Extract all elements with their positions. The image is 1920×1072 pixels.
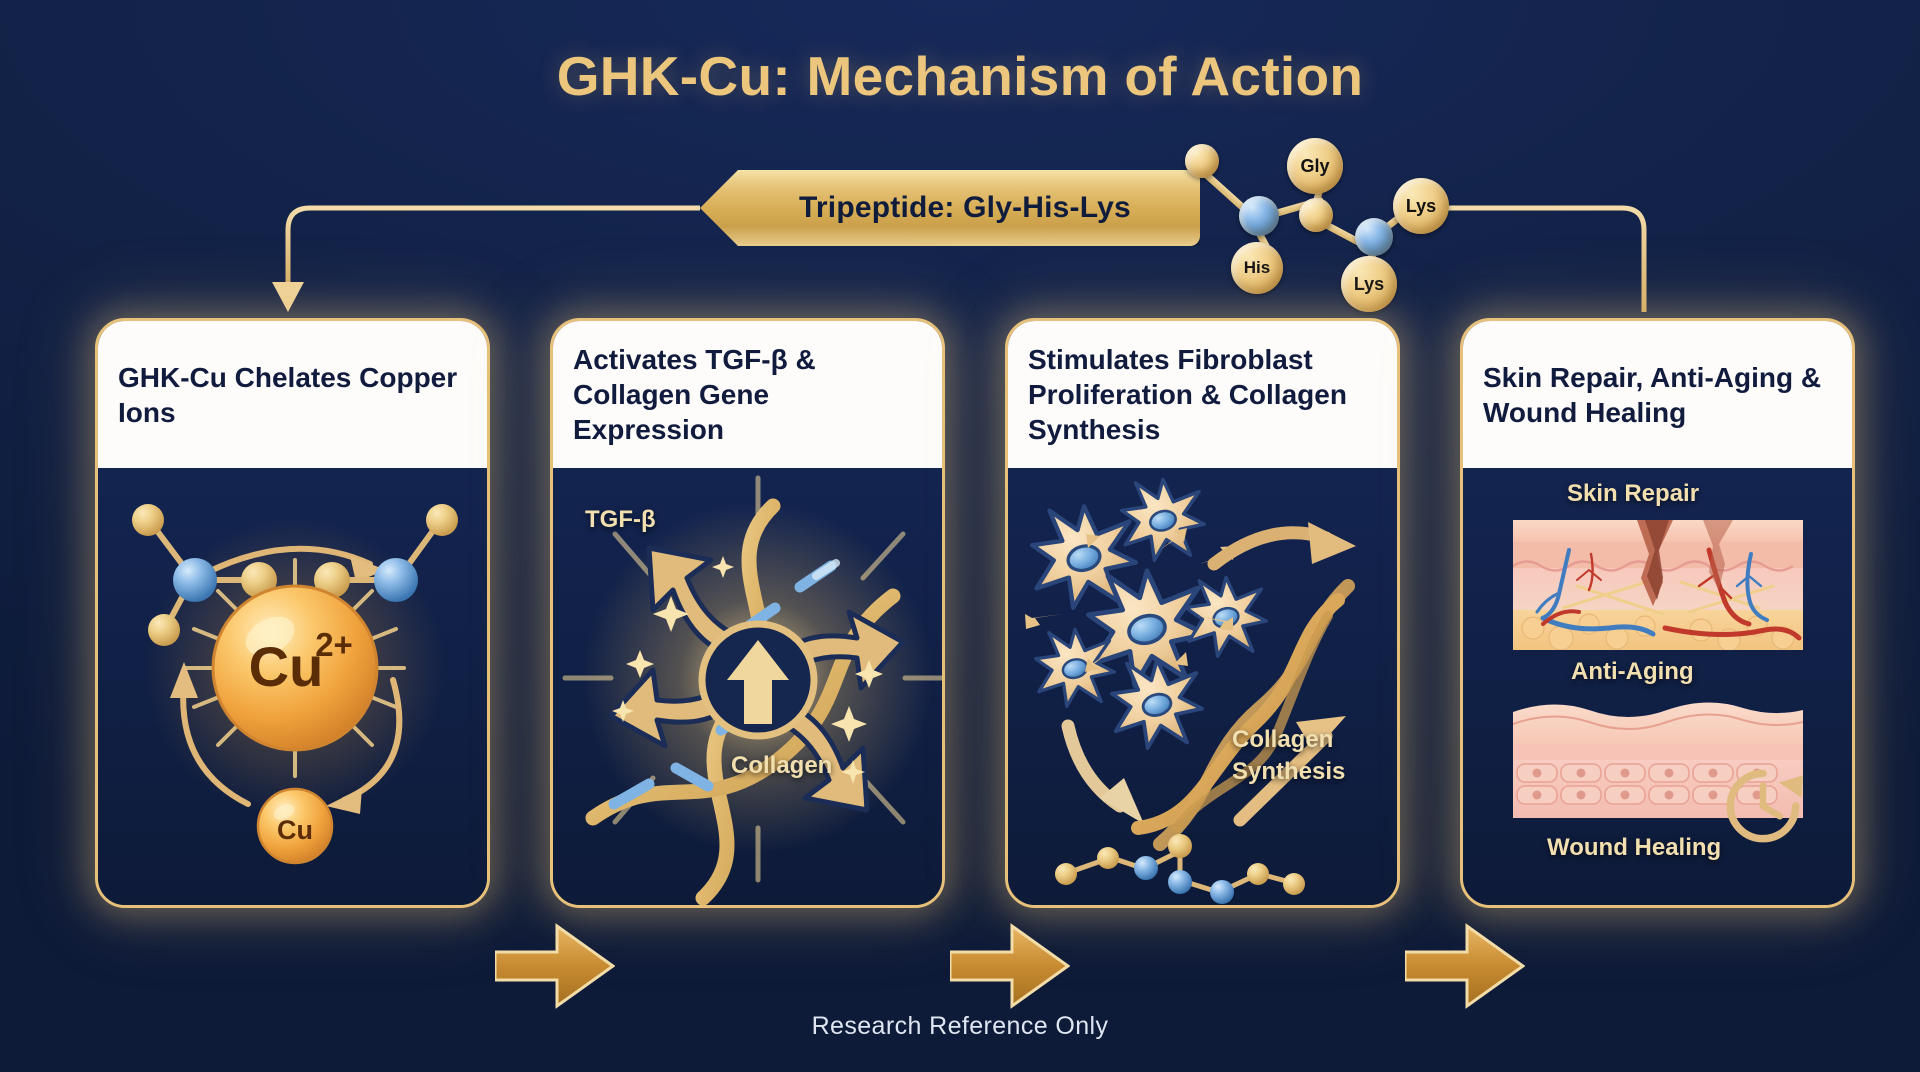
copper-core-charge: 2+ (315, 626, 353, 663)
copper-chelation-diagram: Cu 2+ Cu (98, 468, 490, 908)
step-card-header: GHK-Cu Chelates Copper Ions (98, 321, 487, 468)
collagen-synthesis-label-line2: Synthesis (1232, 758, 1345, 786)
molecule-node-his: His (1231, 242, 1283, 294)
molecule-node-lys-upper: Lys (1393, 178, 1449, 234)
molecule-node-his-label: His (1244, 258, 1270, 278)
step-card-header: Stimulates Fibroblast Proliferation & Co… (1008, 321, 1397, 468)
skin-repair-label: Skin Repair (1567, 480, 1699, 508)
step-card-header: Skin Repair, Anti-Aging & Wound Healing (1463, 321, 1852, 468)
connector-left (288, 208, 700, 288)
step-card-title: Activates TGF-β & Collagen Gene Expressi… (573, 342, 922, 447)
connector-left-arrowhead (272, 282, 304, 312)
tripeptide-molecule-diagram: His Gly Lys Lys (1175, 122, 1435, 302)
molecule-node-terminal (1185, 144, 1219, 178)
molecule-node-gly-label: Gly (1300, 156, 1329, 177)
step-card-illustration: Skin Repair (1463, 468, 1852, 908)
copper-secondary-label: Cu (277, 815, 313, 845)
wound-healing-label: Wound Healing (1547, 834, 1721, 862)
step-card-gene-expression[interactable]: Activates TGF-β & Collagen Gene Expressi… (550, 318, 945, 908)
fibroblast-collagen-diagram (1008, 468, 1400, 908)
step-card-illustration: Cu 2+ Cu (98, 468, 487, 908)
step-card-illustration: Collagen Synthesis (1008, 468, 1397, 908)
molecule-node-lys-lower-label: Lys (1354, 274, 1384, 295)
step-card-title: Skin Repair, Anti-Aging & Wound Healing (1483, 360, 1832, 430)
connector-right (1408, 208, 1644, 312)
tripeptide-banner: Tripeptide: Gly-His-Lys (700, 170, 1200, 246)
step-arrow-3-to-4 (1405, 918, 1525, 1014)
step-arrow-2-to-3 (950, 918, 1070, 1014)
copper-core-label: Cu (249, 635, 324, 698)
step-card-illustration: TGF-β Collagen (553, 468, 942, 908)
step-card-outcomes[interactable]: Skin Repair, Anti-Aging & Wound Healing … (1460, 318, 1855, 908)
skin-repair-cross-section (1513, 520, 1803, 650)
tgf-beta-label: TGF-β (585, 506, 656, 534)
molecule-node-lys-lower: Lys (1341, 256, 1397, 312)
footer-note: Research Reference Only (0, 1012, 1920, 1041)
collagen-synthesis-label-line1: Collagen (1232, 726, 1333, 754)
step-card-fibroblast[interactable]: Stimulates Fibroblast Proliferation & Co… (1005, 318, 1400, 908)
molecule-node-center (1299, 198, 1333, 232)
tripeptide-banner-label: Tripeptide: Gly-His-Lys (700, 170, 1200, 246)
molecule-node-blue (1239, 196, 1279, 236)
mechanism-steps: GHK-Cu Chelates Copper Ions (95, 318, 1855, 908)
collagen-label: Collagen (731, 752, 832, 780)
step-card-chelation[interactable]: GHK-Cu Chelates Copper Ions (95, 318, 490, 908)
step-arrow-1-to-2 (495, 918, 615, 1014)
step-card-header: Activates TGF-β & Collagen Gene Expressi… (553, 321, 942, 468)
molecule-node-blue (1355, 218, 1393, 256)
molecule-node-gly: Gly (1287, 138, 1343, 194)
anti-aging-label: Anti-Aging (1571, 658, 1694, 686)
dna-activation-diagram (553, 468, 945, 908)
clock-icon (1721, 764, 1805, 848)
step-card-title: GHK-Cu Chelates Copper Ions (118, 360, 467, 430)
step-card-title: Stimulates Fibroblast Proliferation & Co… (1028, 342, 1377, 447)
molecule-node-lys-upper-label: Lys (1406, 196, 1436, 217)
